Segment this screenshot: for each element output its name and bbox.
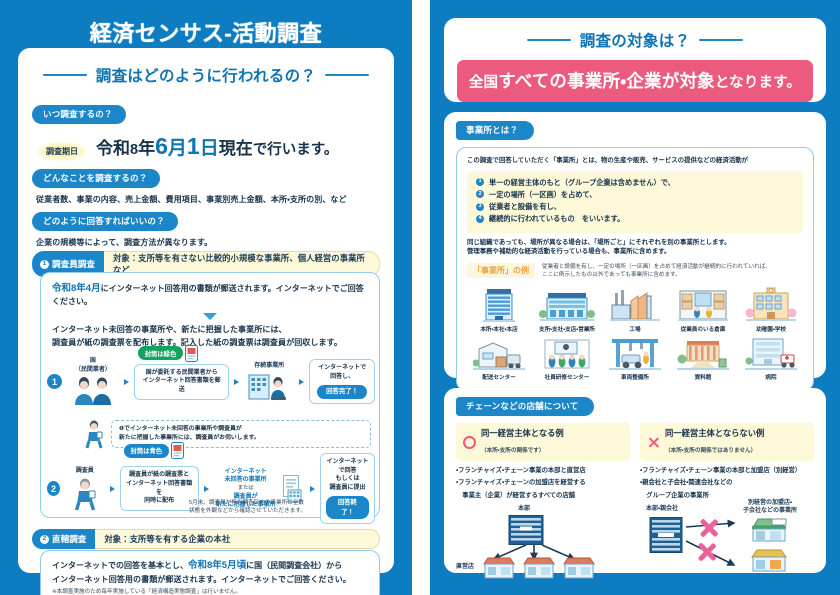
store-icon [562, 557, 596, 579]
building-label: 車両整備所 [621, 373, 649, 381]
building-label: 社員研修センター [545, 373, 590, 381]
building-item: 支所・支社・支店・営業所 [535, 287, 599, 333]
flow-1-result-button: 回答完了！ [317, 385, 367, 399]
how-body: 企業の規模等によって、調査方法が異なります。 [32, 237, 380, 249]
condition-text: 従業者と設備を有し、 [489, 201, 561, 213]
building-label: 病院 [765, 373, 776, 381]
chain-store-card: チェーンなどの店舗について 同一経営主体となる例 （本所・支所の関係です） ・フ… [444, 388, 826, 573]
flow-1-box-line2: インターネット回答書類を郵送 [140, 377, 224, 394]
office-examples-note2: ここに例示したもの以外であっても事業所に含めます。 [542, 271, 771, 279]
flow-2-result-line3: 調査員に提出 [326, 484, 369, 493]
chain-ok-bullet: ・フランチャイズ・チェーン事業の本部と直営店 [456, 466, 630, 476]
subsidiary-store-icon [748, 549, 790, 575]
flow-1-box-line1: 国が委託する民間業者から [140, 369, 224, 378]
target-banner: 全国すべての事業所・企業が対象となります。 [457, 60, 813, 102]
office-condition-item: 3 従業者と設備を有し、 [476, 201, 794, 213]
question-when: いつ調査するの？ 調査期日 令和8年6月1日現在で行います。 [32, 104, 380, 161]
date-day-unit: 日 [200, 138, 219, 159]
pill-how: どのように回答すればいいの？ [32, 212, 178, 231]
office-condition-item: 1 単一の経営主体のもと（グループ企業は含めません）で、 [476, 177, 794, 189]
rule-right-right-page [699, 39, 743, 42]
rule-left [43, 74, 87, 77]
survey-type-2-target: 対象：支所等を有する企業の本社 [95, 529, 380, 549]
pill-what-is-office: 事業所とは？ [456, 121, 534, 141]
parent-company-icon [648, 517, 684, 553]
ng-diagram-right-label-2: 子会社などの事業所 [732, 507, 808, 515]
building-item: 車両整備所 [603, 337, 667, 381]
condition-number: 4 [476, 215, 484, 223]
right-page: 調査の対象は？ 全国すべての事業所・企業が対象となります。 事業所とは？ この調… [430, 0, 840, 595]
flow-2-mid-line1: インターネット [214, 468, 278, 476]
type-1-lead-highlight: 令和8年4月 [52, 283, 101, 294]
rule-left-right-page [527, 39, 571, 42]
paper-questionnaire-icon [171, 442, 184, 459]
condition-number: 2 [476, 190, 484, 198]
museum-building-icon [677, 337, 729, 371]
date-year-num: 8 [130, 142, 138, 158]
flow-2-actor-label: 調査員 [76, 467, 94, 475]
date-tail: で行います。 [253, 142, 339, 158]
flow-1-arrow-1-icon [124, 379, 129, 385]
flow-2-result-line2: もしくは [326, 475, 369, 484]
type-2-line1-highlight: 令和8年5月頃 [188, 560, 246, 571]
banner-part-d: となります。 [715, 75, 801, 91]
flow-1-message: 封筒は緑色 国が委託する民間業者から インターネット回答書類を郵送 [134, 364, 230, 400]
flow-note-line1: ❶でインターネット未回答の事業所や調査員が [119, 425, 363, 434]
condition-number: 1 [476, 178, 484, 186]
right-section-title: 調査の対象は？ [444, 29, 826, 51]
walking-surveyor-icon [81, 419, 107, 449]
building-grid-row-2: 配送センター [467, 337, 803, 381]
flow-2-result: インターネットで回答 もしくは 調査員に提出 回答終了！ [320, 453, 375, 524]
flow-2-box-line3: 同時に配布 [126, 497, 193, 506]
date-month-unit: 月 [168, 138, 187, 159]
page-gutter [412, 0, 430, 595]
chain-ok-column: 同一経営主体となる例 （本所・支所の関係です） ・フランチャイズ・チェーン事業の… [456, 423, 630, 577]
office-definition-card: 事業所とは？ この調査で回答していただく「事業所」とは、物の生産や販売、サービス… [444, 112, 826, 378]
left-section-title-text: 調査はどのように行われるの？ [96, 64, 316, 86]
type-2-footnote: ※本調査実施のため毎年実施している「経済構造実態調査」は行いません。 [52, 588, 368, 595]
chain-ok-bullet: ・フランチャイズ・チェーンの加盟店を経営する [456, 478, 630, 488]
office-examples-header: 「事業所」の例 従業者と設備を有し、一定の場所（一区画）を占めて経済活動が継続的… [467, 263, 803, 280]
survey-date-line: 調査期日 令和8年6月1日現在で行います。 [32, 133, 380, 161]
building-item: 工場 [603, 287, 667, 333]
type-2-line1-b: に国（民間調査会社）から [246, 561, 342, 570]
store-icon [522, 557, 556, 579]
office-definition-lead: この調査で回答していただく「事業所」とは、物の生産や販売、サービスの提供などの経… [467, 156, 803, 166]
vehicle-maintenance-shop-icon [609, 337, 661, 371]
flow-1-result: インターネットで回答し、 回答完了！ [309, 359, 375, 404]
ok-diagram-top-label: 本部 [518, 505, 530, 513]
brochure-title: 経済センサス‐活動調査 [0, 16, 412, 48]
flow-2-footnote: 5月末、調査員が担当調査区内の事業所の全数 状態を外観などから確認させていただき… [189, 499, 309, 516]
factory-icon [609, 287, 661, 323]
flow-2-number: 2 [47, 481, 60, 496]
chain-ng-bullet: ・親会社と子会社・関連会社などの [640, 478, 814, 488]
condition-text: 単一の経営主体のもと（グループ企業は含めません）で、 [489, 177, 675, 189]
building-item: 病院 [739, 337, 803, 381]
badge-label-2: 直轄調査 [52, 533, 86, 545]
chain-ok-bullets: ・フランチャイズ・チェーン事業の本部と直営店 ・フランチャイズ・チェーンの加盟店… [456, 466, 630, 501]
flow-2-footnote-line2: 状態を外観などから確認させていただきます。 [189, 507, 309, 515]
ng-diagram-right-label-1: 別経営の加盟店・ [732, 499, 808, 507]
surveyor-icon [70, 477, 100, 511]
branch-office-building-icon [538, 287, 596, 323]
office-after-line2: 管理事務や補助的な経済活動を行っている場合も、事業所に含めます。 [467, 247, 803, 257]
school-building-icon [745, 287, 797, 323]
building-label: 支所・支社・支店・営業所 [539, 325, 595, 333]
chain-ng-bullet: ・フランチャイズ・チェーン事業の本部と加盟店（別経営） [640, 466, 814, 476]
flow-2-box-line1: 調査員が紙の調査票と [126, 471, 193, 480]
flow-2-footnote-line1: 5月末、調査員が担当調査区内の事業所の全数 [189, 499, 309, 507]
office-condition-item: 2 一定の場所（一区画）を占めて、 [476, 189, 794, 201]
left-page: 経済センサス‐活動調査 調査はどのように行われるの？ いつ調査するの？ 調査期日… [0, 0, 412, 595]
survey-type-2-header: 2 直轄調査 対象：支所等を有する企業の本社 [32, 529, 380, 549]
office-examples-tag: 「事業所」の例 [467, 263, 535, 278]
banner-part-a: 全国 [469, 75, 498, 91]
building-label: 幼稚園・学校 [756, 325, 786, 333]
flow-2-result-button: 回答終了！ [326, 496, 369, 520]
pill-when: いつ調査するの？ [32, 105, 126, 124]
chain-comparison: 同一経営主体となる例 （本所・支所の関係です） ・フランチャイズ・チェーン事業の… [444, 416, 826, 577]
right-section-title-text: 調査の対象は？ [580, 29, 691, 51]
chain-ng-title: 同一経営主体とならない例 [665, 427, 764, 439]
office-condition-list: 1 単一の経営主体のもと（グループ企業は含めません）で、 2 一定の場所（一区画… [467, 171, 803, 233]
chain-ok-diagram: 本部 [456, 505, 630, 577]
flow-1-actor-label-2: （民間業者） [75, 366, 111, 374]
flow-1-message-box: 国が委託する民間業者から インターネット回答書類を郵送 [134, 364, 230, 400]
type-2-line1-a: インターネットでの回答を基本とし、 [52, 561, 188, 570]
flow-2-arrow-3-icon [310, 486, 315, 492]
flow-2-message: 封筒は青色 調査員が紙の調査票と インターネット回答書類を 同時に配 [120, 466, 199, 511]
ng-diagram-left-label: 本部・親会社 [646, 505, 678, 513]
flow-2-result-line1: インターネットで回答 [326, 458, 369, 475]
office-examples-note1: 従業者と設備を有し、一定の場所（一区画）を占めて経済活動が継続的に行われていれば… [542, 263, 771, 271]
flow-2-arrow-2-icon [204, 486, 209, 492]
building-label: 資料館 [695, 373, 712, 381]
what-body: 従業者数、事業の内容、売上金額、費用項目、事業別売上金額、本所・支所の別、など [32, 194, 380, 206]
flow-step-1: 1 国 （民間業者） [47, 357, 375, 406]
building-label: 従業員のいる倉庫 [681, 325, 726, 333]
building-item: 社員研修センター [535, 337, 599, 381]
flow-1-arrow-2-icon [234, 379, 239, 385]
badge-label-1: 調査員調査 [52, 258, 95, 270]
flow-1-result-text: インターネットで回答し、 [315, 364, 369, 381]
date-era: 令和 [96, 139, 130, 158]
chain-ok-header: 同一経営主体となる例 （本所・支所の関係です） [456, 423, 630, 461]
rule-right [325, 74, 369, 77]
pill-chain-stores: チェーンなどの店舗について [456, 397, 594, 417]
condition-text: 一定の場所（一区画）を占めて、 [489, 189, 596, 201]
blocked-relation-x-icon-1 [698, 517, 720, 539]
headquarters-building-icon [475, 287, 523, 323]
distribution-center-icon [473, 337, 525, 371]
survey-date-value: 令和8年6月1日現在で行います。 [96, 133, 338, 160]
internet-letter-icon [185, 345, 198, 362]
envelope-color-tag-blue: 封筒は青色 [124, 444, 169, 458]
flow-1-arrow-3-icon [299, 379, 304, 385]
condition-text: 継続的に行われているもの をいいます。 [489, 213, 624, 225]
ok-diagram-bottom-label: 直営店 [456, 563, 474, 571]
office-definition-panel: この調査で回答していただく「事業所」とは、物の生産や販売、サービスの提供などの経… [456, 147, 814, 391]
training-center-icon [541, 337, 593, 371]
flow-2-mid-or: または [214, 485, 278, 492]
two-people-icon [70, 376, 116, 406]
building-label: 配送センター [482, 373, 516, 381]
flow-1-actor: 国 （民間業者） [67, 357, 119, 406]
condition-number: 3 [476, 203, 484, 211]
flow-2-message-box: 調査員が紙の調査票と インターネット回答書類を 同時に配布 [120, 466, 199, 511]
survey-date-tag: 調査期日 [37, 142, 87, 161]
type-1-lead: 令和8年4月にインターネット回答用の書類が郵送されます。インターネットでご回答く… [41, 273, 379, 349]
envelope-color-tag-green: 封筒は緑色 [138, 346, 183, 360]
flow-1-number: 1 [47, 374, 62, 389]
down-arrow-icon [203, 313, 217, 320]
building-item: 幼稚園・学校 [739, 287, 803, 333]
left-section-title: 調査はどのように行われるの？ [18, 64, 394, 86]
chain-ok-bullet: 事業主（企業）が経営するすべての店舗 [456, 491, 630, 501]
flow-2-mid-line2: 未回答の事業所 [214, 476, 278, 484]
badge-number-1: 1 [40, 260, 49, 269]
building-item: 従業員のいる倉庫 [671, 287, 735, 333]
store-icon [482, 557, 516, 579]
date-day-num: 1 [187, 133, 200, 159]
franchise-store-icon [748, 517, 790, 543]
right-title-card: 調査の対象は？ 全国すべての事業所・企業が対象となります。 [444, 18, 826, 102]
flow-2-arrow-1-icon [110, 486, 115, 492]
type-1-sub-line1: インターネット未回答の事業所や、新たに把握した事業所には、 [52, 324, 368, 336]
building-item: 配送センター [467, 337, 531, 381]
survey-type-2-panel: インターネットでの回答を基本とし、令和8年5月頃に国（民間調査会社）から インタ… [40, 550, 380, 595]
building-grid-row-1: 本所・本社・本店 [467, 287, 803, 333]
office-after-line1: 同じ組織であっても、場所が異なる場合は、「場所ごと」にそれぞれを別の事業所としま… [467, 238, 803, 248]
headquarters-icon [506, 515, 546, 545]
flow-2-box-line2: インターネット回答書類を [126, 480, 193, 497]
banner-part-b: すべての事業所・企業 [498, 71, 662, 91]
flow-1-target-label: 存続事業所 [254, 362, 284, 370]
chain-ng-bullets: ・フランチャイズ・チェーン事業の本部と加盟店（別経営） ・親会社と子会社・関連会… [640, 466, 814, 501]
date-now: 現在 [219, 139, 253, 158]
chain-ng-column: 同一経営主体とならない例 （本所・支所の関係ではありません） ・フランチャイズ・… [640, 423, 814, 577]
chain-ng-diagram: 本部・親会社 別経営の加盟店・ 子会社などの事業所 [640, 505, 814, 577]
type-2-line2: インターネット回答用の書類が郵送されます。インターネットでご回答ください。 [52, 574, 368, 586]
cross-ng-icon [647, 436, 660, 449]
survey-type-2-badge: 2 直轄調査 [32, 529, 95, 549]
chain-ng-header: 同一経営主体とならない例 （本所・支所の関係ではありません） [640, 423, 814, 461]
banner-part-c: が対象 [662, 71, 715, 91]
chain-ok-title: 同一経営主体となる例 [481, 427, 564, 439]
building-item: 資料館 [671, 337, 735, 381]
building-label: 工場 [629, 325, 640, 333]
building-item: 本所・本社・本店 [467, 287, 531, 333]
date-month-num: 6 [155, 133, 168, 159]
office-building-with-worker-icon [247, 372, 291, 402]
question-what: どんなことを調査するの？ 従業者数、事業の内容、売上金額、費用項目、事業別売上金… [32, 168, 380, 206]
survey-type-1-panel: 令和8年4月にインターネット回答用の書類が郵送されます。インターネットでご回答く… [40, 272, 380, 518]
office-condition-item: 4 継続的に行われているもの をいいます。 [476, 213, 794, 225]
date-year-unit: 年 [138, 139, 155, 158]
badge-number-2: 2 [40, 535, 49, 544]
blocked-relation-x-icon-2 [696, 541, 718, 563]
hospital-building-icon [745, 337, 797, 371]
type-1-sub-line2: 調査員が紙の調査票を配布します。記入した紙の調査票は調査員が回収します。 [52, 337, 368, 349]
circle-ok-icon [463, 436, 476, 449]
brochure-spread: 経済センサス‐活動調査 調査はどのように行われるの？ いつ調査するの？ 調査期日… [0, 0, 840, 595]
pill-what: どんなことを調査するの？ [32, 169, 160, 188]
warehouse-with-workers-icon [677, 287, 729, 323]
chain-ng-subtitle: （本所・支所の関係ではありません） [665, 448, 756, 454]
left-sheet: 調査はどのように行われるの？ いつ調査するの？ 調査期日 令和8年6月1日現在で… [18, 48, 394, 573]
flow-2-actor: 調査員 [65, 467, 105, 511]
question-how: どのように回答すればいいの？ 企業の規模等によって、調査方法が異なります。 [32, 211, 380, 249]
flow-1-actor-label-1: 国 [90, 357, 96, 365]
chain-ok-subtitle: （本所・支所の関係です） [481, 448, 544, 454]
building-label: 本所・本社・本店 [480, 325, 517, 333]
flow-1-target: 存続事業所 [244, 362, 294, 402]
